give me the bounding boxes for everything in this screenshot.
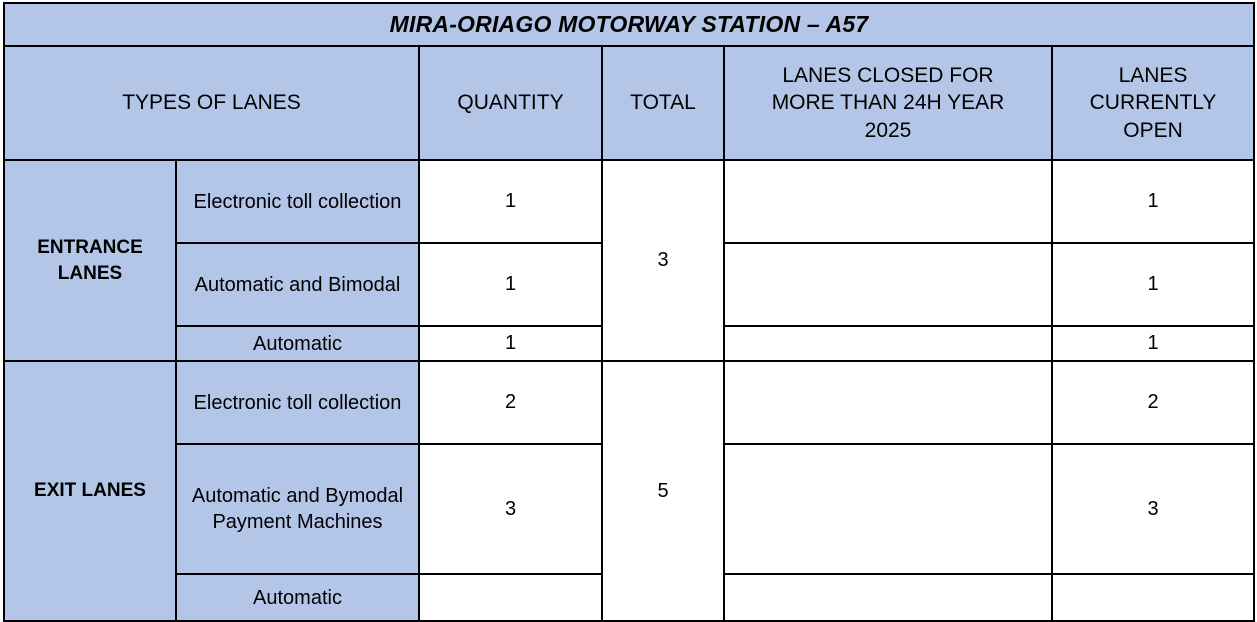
lanes-closed-cell [724,574,1052,621]
lane-type-cell: Automatic [176,326,419,361]
lanes-closed-cell [724,326,1052,361]
title-row: MIRA-ORIAGO MOTORWAY STATION – A57 [4,3,1254,46]
lanes-open-cell [1052,574,1254,621]
total-cell: 3 [602,160,724,361]
group-label-line-2: LANES [82,480,146,501]
lane-type-cell: Electronic toll collection [176,361,419,444]
table-row: ENTRANCE LANES Electronic toll collectio… [4,160,1254,243]
lanes-closed-line-1: LANES CLOSED FOR [725,62,1051,89]
lanes-open-cell: 2 [1052,361,1254,444]
lanes-open-cell: 1 [1052,160,1254,243]
table-title: MIRA-ORIAGO MOTORWAY STATION – A57 [4,3,1254,46]
lane-type-line-2: Bimodal [328,274,400,296]
column-header-lanes-closed: LANES CLOSED FOR MORE THAN 24H YEAR 2025 [724,46,1052,160]
quantity-cell: 1 [419,243,602,326]
quantity-cell [419,574,602,621]
group-label-entrance-lanes: ENTRANCE LANES [4,160,176,361]
group-label-line-2: LANES [58,263,122,284]
lane-type-line-2: collection [318,191,401,213]
column-header-lanes-open: LANES CURRENTLY OPEN [1052,46,1254,160]
lane-type-line-2: collection [318,392,401,414]
lanes-open-line-1: LANES [1053,62,1253,89]
table-row: EXIT LANES Electronic toll collection 2 … [4,361,1254,444]
lanes-open-line-2: CURRENTLY [1053,89,1253,116]
quantity-cell: 1 [419,160,602,243]
lanes-summary-table: MIRA-ORIAGO MOTORWAY STATION – A57 TYPES… [3,2,1255,622]
lane-type-line-1: Automatic and [192,485,320,507]
lanes-closed-cell [724,243,1052,326]
lane-type-cell: Automatic and Bimodal [176,243,419,326]
header-row: TYPES OF LANES QUANTITY TOTAL LANES CLOS… [4,46,1254,160]
lanes-open-line-3: OPEN [1053,117,1253,144]
column-header-types-of-lanes: TYPES OF LANES [4,46,419,160]
quantity-cell: 3 [419,444,602,574]
spreadsheet-canvas: MIRA-ORIAGO MOTORWAY STATION – A57 TYPES… [0,0,1257,613]
lanes-open-cell: 3 [1052,444,1254,574]
lanes-closed-cell [724,361,1052,444]
lanes-closed-cell [724,160,1052,243]
group-label-line-1: EXIT [34,480,76,501]
lane-type-line-1: Automatic [253,587,342,609]
lane-type-cell: Automatic [176,574,419,621]
lane-type-line-1: Electronic toll [194,392,313,414]
lanes-closed-cell [724,444,1052,574]
total-cell: 5 [602,361,724,621]
group-label-exit-lanes: EXIT LANES [4,361,176,621]
column-header-quantity: QUANTITY [419,46,602,160]
lane-type-line-1: Automatic [253,333,342,355]
group-label-line-1: ENTRANCE [37,237,143,258]
column-header-total: TOTAL [602,46,724,160]
lane-type-line-3: Machines [297,511,383,533]
quantity-cell: 1 [419,326,602,361]
lanes-open-cell: 1 [1052,243,1254,326]
lanes-closed-line-3: 2025 [725,117,1051,144]
lane-type-cell: Electronic toll collection [176,160,419,243]
lanes-closed-line-2: MORE THAN 24H YEAR [725,89,1051,116]
lane-type-line-1: Automatic and [195,274,323,296]
lane-type-cell: Automatic and Bymodal Payment Machines [176,444,419,574]
lane-type-line-1: Electronic toll [194,191,313,213]
lanes-open-cell: 1 [1052,326,1254,361]
quantity-cell: 2 [419,361,602,444]
